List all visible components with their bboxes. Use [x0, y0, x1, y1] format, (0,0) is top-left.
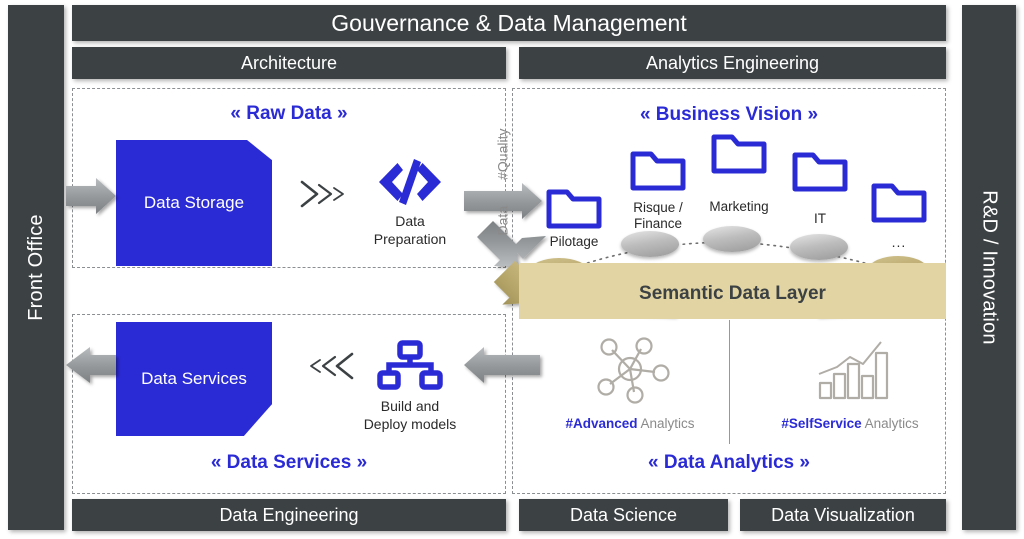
disc-it	[790, 234, 848, 260]
bar-governance-label: Gouvernance & Data Management	[331, 10, 686, 37]
sidebar-front-office-label: Front Office	[25, 214, 48, 321]
bar-data-visualization: Data Visualization	[740, 499, 946, 531]
data-preparation-group: Data Preparation	[345, 155, 475, 248]
bar-data-science: Data Science	[519, 499, 728, 531]
disc-risque-finance	[621, 231, 679, 257]
selfservice-analytics-hash: #SelfService	[781, 416, 861, 431]
folder-marketing-icon	[710, 131, 768, 175]
diagram-canvas: Front Office R&D / Innovation Gouvernanc…	[0, 0, 1024, 539]
folder-pilotage-label: Pilotage	[516, 234, 632, 250]
bar-governance: Gouvernance & Data Management	[72, 5, 946, 41]
data-quality-axis-label-data: Data	[494, 206, 510, 236]
build-deploy-group: Build and Deploy models	[345, 340, 475, 433]
code-icon	[345, 155, 475, 209]
data-quality-axis-label-quality: #Quality	[494, 129, 510, 180]
bar-data-science-label: Data Science	[570, 505, 677, 526]
block-data-services: Data Services	[116, 322, 272, 436]
disc-marketing	[703, 226, 761, 252]
data-quality-axis: Data #Quality	[491, 92, 513, 272]
build-deploy-label: Build and Deploy models	[345, 398, 475, 433]
build-deploy-label-line2: Deploy models	[345, 416, 475, 434]
advanced-analytics-suffix: Analytics	[641, 416, 695, 431]
caption-data-analytics: « Data Analytics »	[512, 452, 946, 474]
folder-it-label: IT	[762, 211, 878, 227]
selfservice-analytics-suffix: Analytics	[865, 416, 919, 431]
data-preparation-label: Data Preparation	[345, 213, 475, 248]
bar-data-engineering-label: Data Engineering	[219, 505, 358, 526]
block-data-storage: Data Storage	[116, 140, 272, 266]
sidebar-front-office: Front Office	[8, 5, 64, 530]
bar-chart-trend-icon	[776, 336, 924, 402]
caption-business-vision: « Business Vision »	[512, 104, 946, 126]
bar-data-engineering: Data Engineering	[72, 499, 506, 531]
data-preparation-label-line2: Preparation	[345, 231, 475, 249]
build-deploy-label-line1: Build and	[345, 398, 475, 416]
bar-analytics-engineering-label: Analytics Engineering	[646, 53, 819, 74]
folder-risque-finance-label-line2: Finance	[600, 216, 716, 232]
org-chart-icon	[345, 340, 475, 394]
advanced-analytics-label: #Advanced Analytics	[556, 416, 704, 431]
block-data-services-label: Data Services	[141, 369, 247, 389]
bar-architecture-label: Architecture	[241, 53, 337, 74]
folder-pilotage-icon	[545, 186, 603, 230]
bar-architecture: Architecture	[72, 47, 506, 79]
advanced-analytics-hash: #Advanced	[565, 416, 637, 431]
bar-analytics-engineering: Analytics Engineering	[519, 47, 946, 79]
sidebar-rd-innovation: R&D / Innovation	[962, 5, 1016, 530]
selfservice-analytics-group: #SelfService Analytics	[776, 336, 924, 431]
folder-it-icon	[791, 149, 849, 193]
block-data-storage-label: Data Storage	[144, 193, 244, 213]
folder-risque-finance-icon	[629, 148, 687, 192]
network-graph-icon	[556, 336, 704, 402]
bar-data-visualization-label: Data Visualization	[771, 505, 915, 526]
data-preparation-label-line1: Data	[345, 213, 475, 231]
caption-data-services: « Data Services »	[72, 452, 506, 474]
selfservice-analytics-label: #SelfService Analytics	[776, 416, 924, 431]
sidebar-rd-innovation-label: R&D / Innovation	[978, 190, 1001, 344]
caption-raw-data: « Raw Data »	[72, 103, 506, 125]
folder-other-icon	[870, 180, 928, 224]
analytics-divider	[729, 320, 730, 444]
advanced-analytics-group: #Advanced Analytics	[556, 336, 704, 431]
folder-other-label: ...	[841, 234, 957, 251]
semantic-data-layer-title: Semantic Data Layer	[519, 283, 946, 305]
